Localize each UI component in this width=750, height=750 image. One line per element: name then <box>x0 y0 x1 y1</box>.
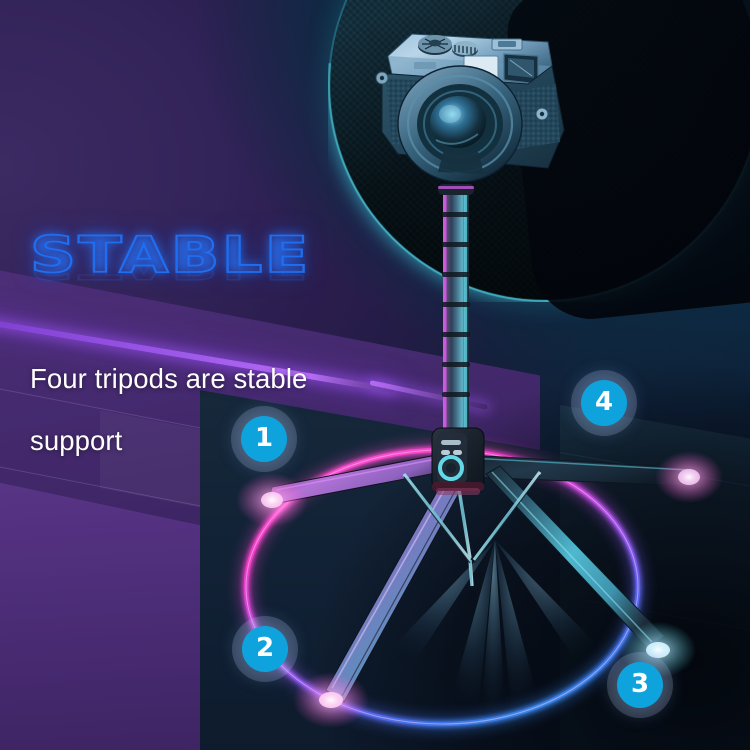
lens-mount-shadow <box>438 150 484 174</box>
top-plate-engraving <box>414 62 436 69</box>
telescoping-center-pole <box>438 184 474 436</box>
stable-title-block: STABLE STABLE <box>30 226 360 322</box>
tripod-leg-lower-right <box>486 466 696 678</box>
hub-mode-button <box>441 450 450 455</box>
stable-title-reflection: STABLE <box>30 247 311 286</box>
shutter-button <box>452 41 478 57</box>
hot-shoe <box>492 39 522 50</box>
control-hub <box>432 428 484 495</box>
callout-badge-4-label: 4 <box>595 389 613 415</box>
strap-lug <box>536 108 548 120</box>
product-image-canvas: STABLE STABLE Four tripods are stable su… <box>0 0 750 750</box>
tripod-leg-lower-left <box>293 472 464 728</box>
callout-badge-2[interactable]: 2 <box>242 626 288 672</box>
shutter-dial <box>418 35 452 55</box>
strap-lug <box>376 72 388 84</box>
callout-badge-3-label: 3 <box>631 671 649 697</box>
callout-badge-1-label: 1 <box>255 425 273 451</box>
hub-mode-button <box>453 450 462 455</box>
callout-badge-4[interactable]: 4 <box>581 380 627 426</box>
tripod-leg-front-left <box>236 452 452 527</box>
viewfinder-window <box>504 54 538 84</box>
callout-badge-1[interactable]: 1 <box>241 416 287 462</box>
rangefinder-camera <box>352 22 568 182</box>
callout-badge-3[interactable]: 3 <box>617 662 663 708</box>
callout-badge-2-label: 2 <box>256 635 274 661</box>
hub-status-slot <box>441 440 461 445</box>
